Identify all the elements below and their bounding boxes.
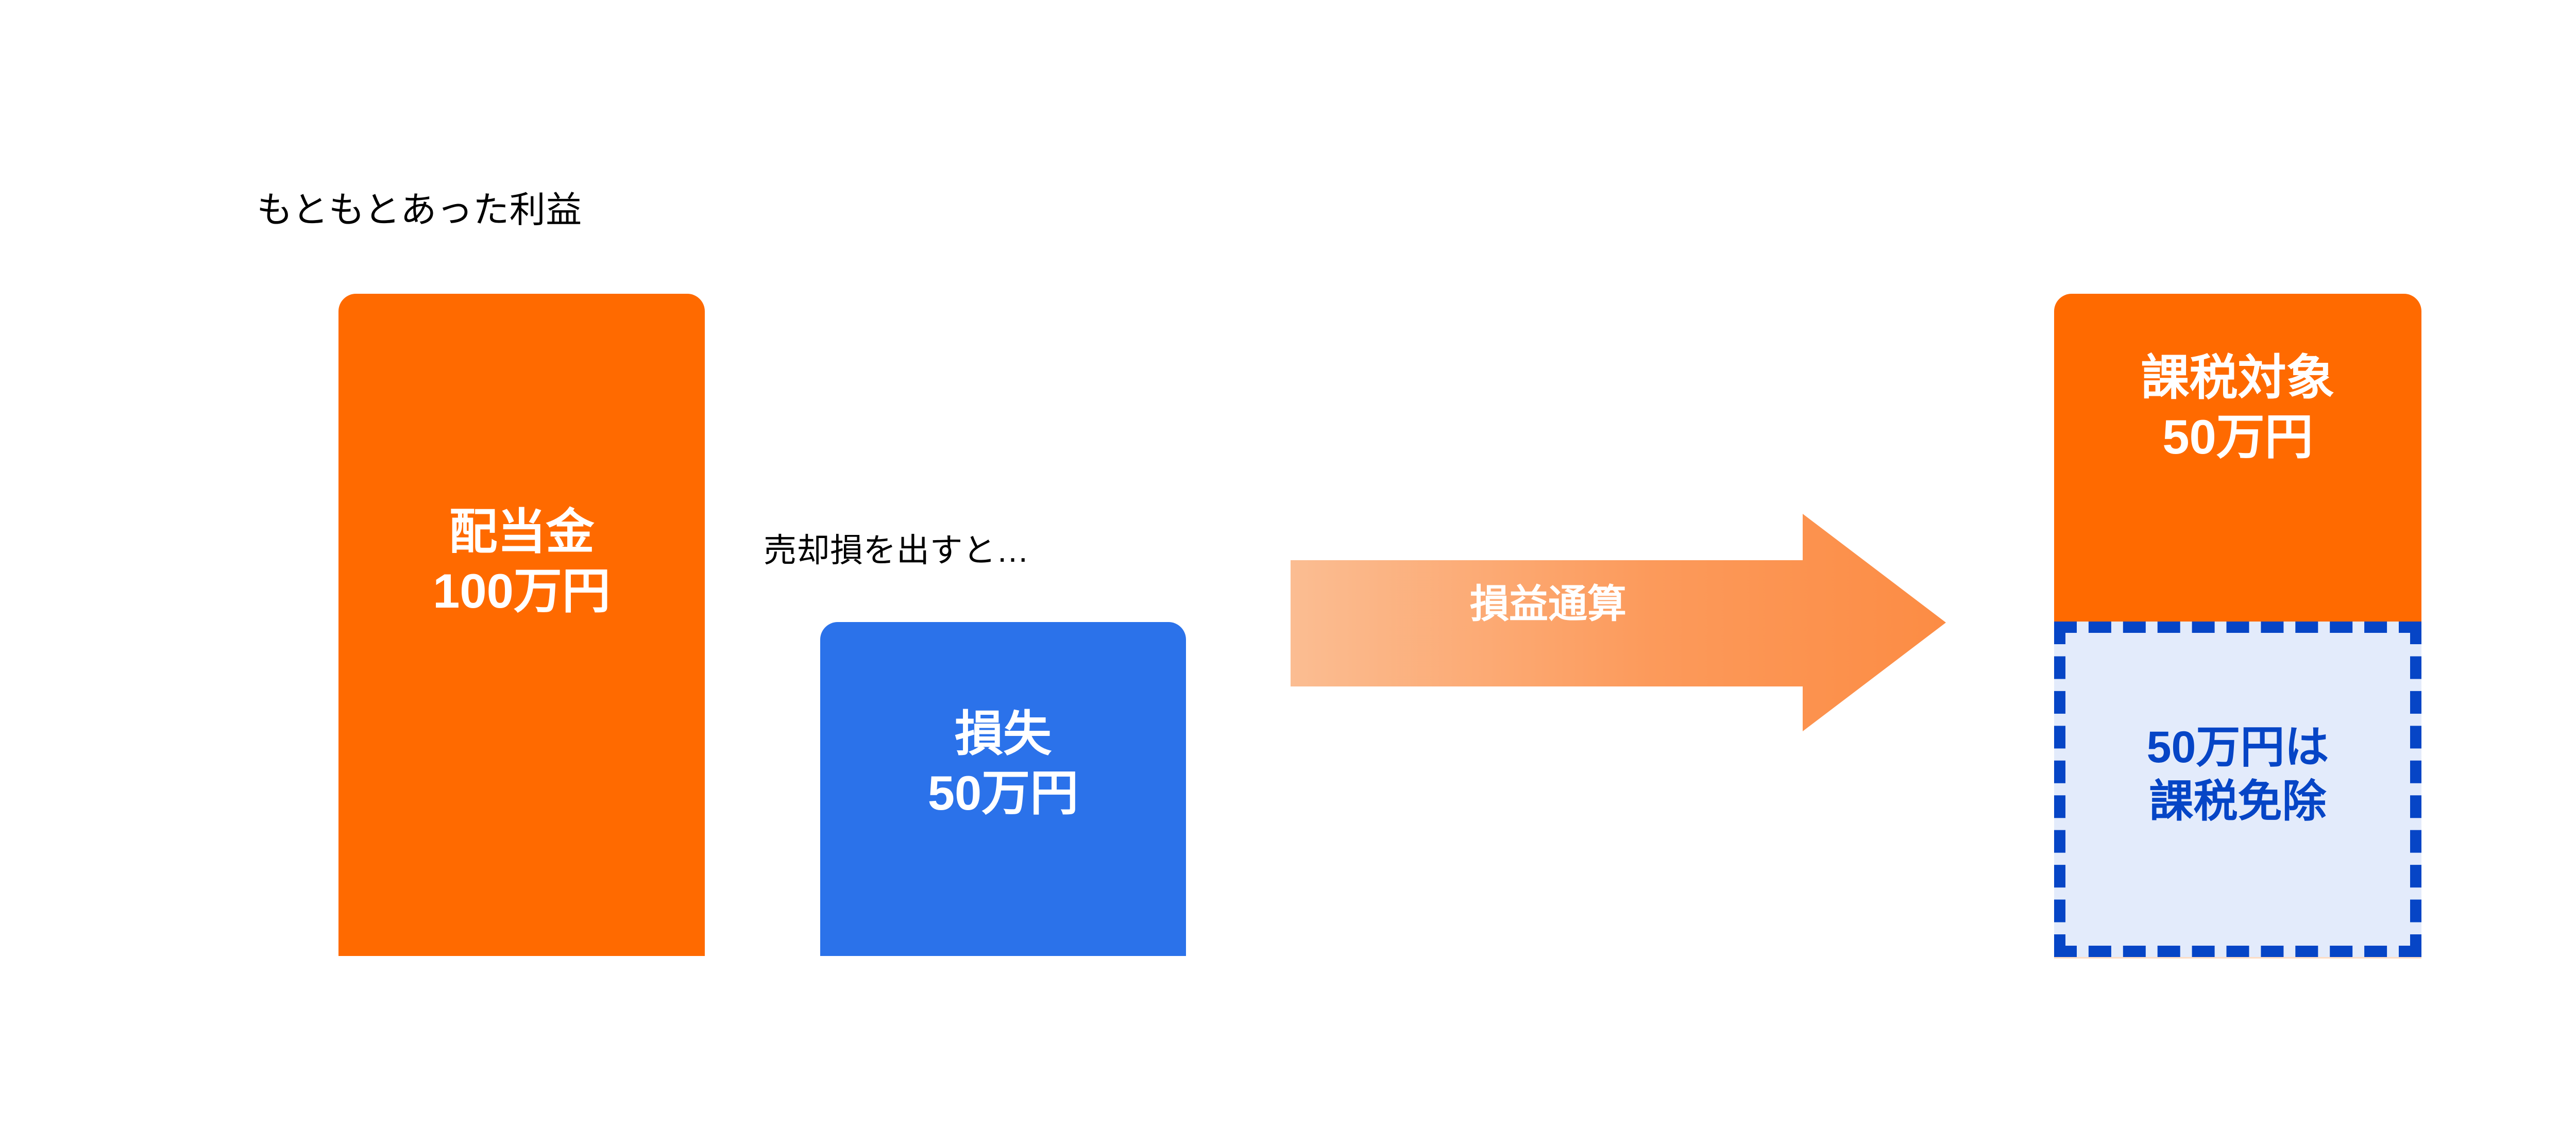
dividend-bar-amount: 100万円 (338, 562, 705, 621)
original-profit-label: もともとあった利益 (257, 192, 582, 228)
taxable-bar-text: 課税対象 50万円 (2054, 348, 2421, 466)
tax-exempt-status: 課税免除 (2065, 775, 2410, 829)
sell-loss-label: 売却損を出すと… (764, 534, 1029, 567)
loss-bar-text: 損失 50万円 (820, 704, 1186, 823)
loss-bar-amount: 50万円 (820, 764, 1186, 823)
loss-bar-name: 損失 (820, 704, 1186, 764)
taxable-bar-amount: 50万円 (2054, 408, 2421, 467)
dividend-bar-text: 配当金 100万円 (338, 502, 705, 620)
taxable-bar: 課税対象 50万円 (2054, 294, 2421, 622)
dividend-bar-name: 配当金 (338, 502, 705, 562)
tax-exempt-amount: 50万円は (2065, 720, 2410, 775)
taxable-bar-name: 課税対象 (2054, 348, 2421, 408)
diagram-canvas: もともとあった利益 配当金 100万円 売却損を出すと… 損失 50万円 (0, 0, 2576, 1124)
dividend-bar: 配当金 100万円 (338, 294, 705, 956)
tax-exempt-box-text: 50万円は 課税免除 (2065, 720, 2410, 829)
offset-arrow-icon (1291, 514, 1946, 731)
loss-bar: 損失 50万円 (820, 622, 1186, 956)
tax-exempt-box: 50万円は 課税免除 (2054, 622, 2421, 957)
